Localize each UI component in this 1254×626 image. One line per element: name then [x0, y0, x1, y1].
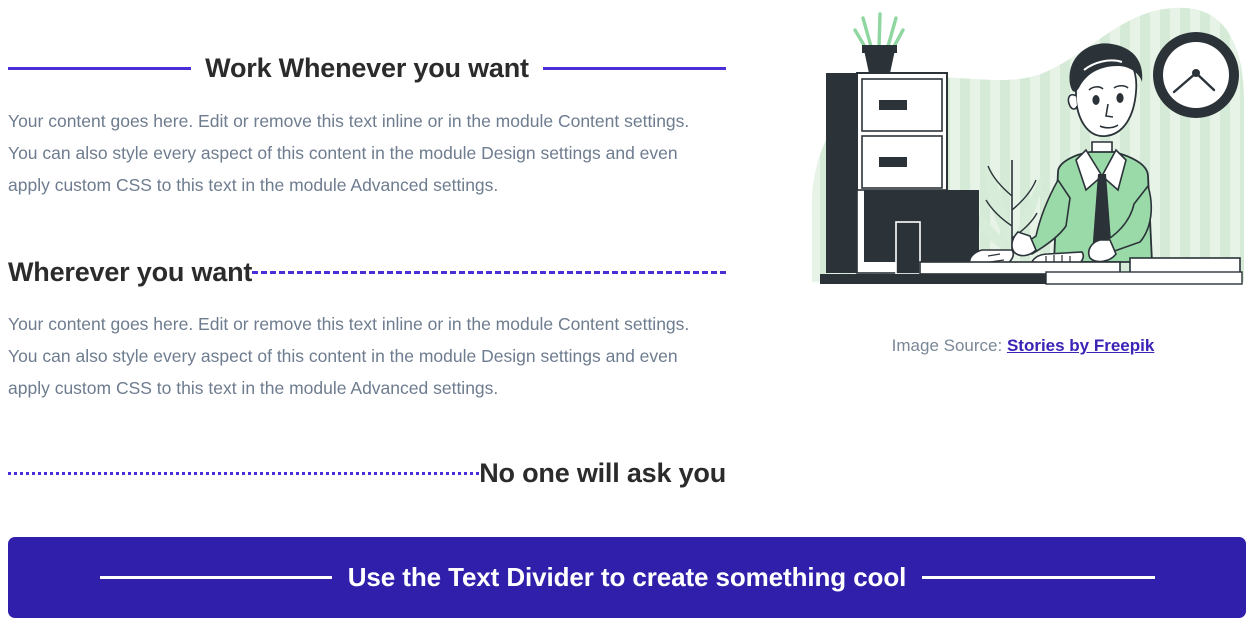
wall-clock-icon — [1153, 32, 1239, 118]
left-text-column: Work Whenever you want Your content goes… — [8, 0, 726, 520]
divider-line-left-dotted — [8, 472, 479, 475]
potted-plant — [855, 14, 903, 78]
right-illustration-column: Image Source: Stories by Freepik — [800, 0, 1246, 380]
divider-heading-wherever: Wherever you want — [8, 256, 726, 290]
page-root: Work Whenever you want Your content goes… — [0, 0, 1254, 626]
heading-wherever: Wherever you want — [8, 256, 252, 290]
caption-prefix: Image Source: — [892, 336, 1007, 355]
freepik-credit-link[interactable]: Stories by Freepik — [1007, 336, 1154, 355]
divider-heading-no-one-will-ask: No one will ask you — [8, 457, 726, 491]
divider-heading-work-whenever: Work Whenever you want — [8, 52, 726, 86]
image-source-caption: Image Source: Stories by Freepik — [800, 336, 1246, 356]
banner-heading: Use the Text Divider to create something… — [332, 562, 923, 593]
banner-divider-line-left — [100, 576, 332, 579]
text-divider-banner: Use the Text Divider to create something… — [8, 537, 1246, 618]
banner-divider-line-right — [922, 576, 1154, 579]
man-working-at-desk-illustration — [800, 0, 1246, 300]
paragraph-work-whenever: Your content goes here. Edit or remove t… — [8, 106, 698, 201]
divider-line-right-solid — [543, 67, 726, 70]
divider-line-right-dashed — [252, 271, 726, 274]
paragraph-wherever: Your content goes here. Edit or remove t… — [8, 309, 698, 404]
divider-line-left-solid — [8, 67, 191, 70]
banner-inner-row: Use the Text Divider to create something… — [100, 562, 1155, 593]
heading-no-one-will-ask: No one will ask you — [479, 457, 726, 491]
heading-work-whenever: Work Whenever you want — [191, 52, 543, 86]
